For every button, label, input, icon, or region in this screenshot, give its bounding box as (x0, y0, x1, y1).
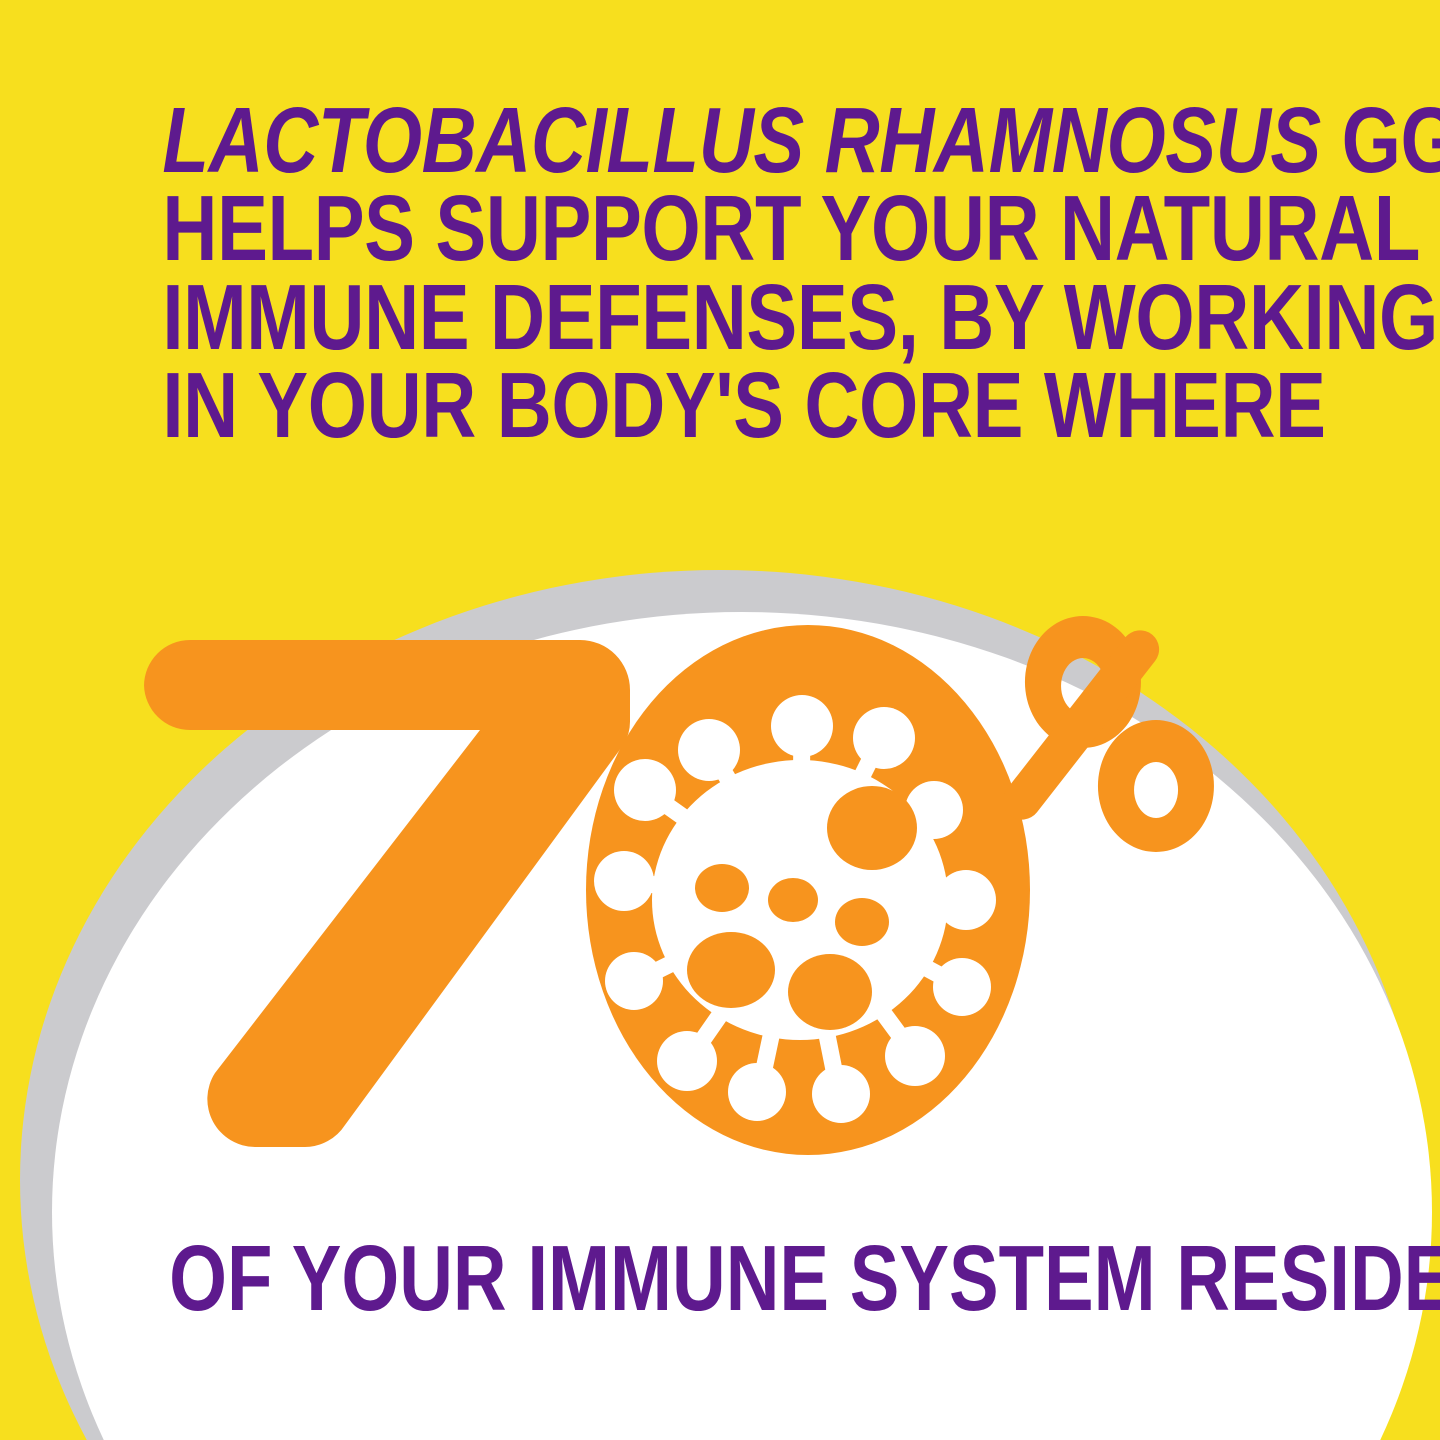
headline-line-3: IMMUNE DEFENSES, BY WORKING (162, 273, 1277, 361)
stat-seventy-percent (0, 600, 1440, 1160)
headline-line-2: HELPS SUPPORT YOUR NATURAL (162, 184, 1277, 272)
caption-line: OF YOUR IMMUNE SYSTEM RESIDES* (169, 1228, 1440, 1325)
caption-text: OF YOUR IMMUNE SYSTEM RESIDES (169, 1226, 1440, 1330)
headline-block: LACTOBACILLUS RHAMNOSUS GG HELPS SUPPORT… (0, 96, 1440, 449)
promo-poster: LACTOBACILLUS RHAMNOSUS GG HELPS SUPPORT… (0, 0, 1440, 1440)
percent-symbol (995, 616, 1214, 852)
digit-seven (144, 640, 630, 1147)
headline-line-1: LACTOBACILLUS RHAMNOSUS GG (162, 96, 1277, 184)
headline-line-4: IN YOUR BODY'S CORE WHERE (162, 361, 1277, 449)
caption-block: OF YOUR IMMUNE SYSTEM RESIDES* (0, 1228, 1440, 1325)
